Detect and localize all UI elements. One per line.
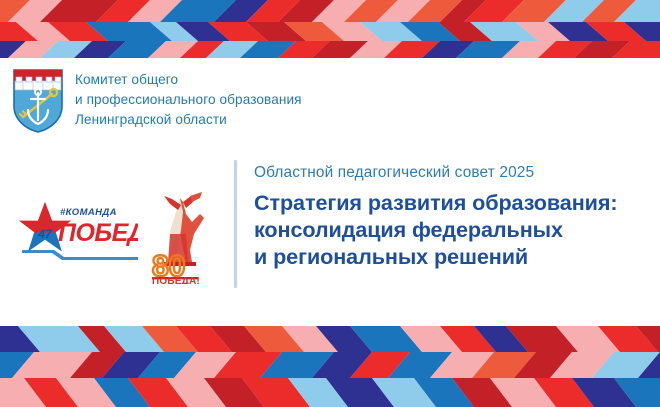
team-of-victory-logo: 47 #КОМАНДА ПОБЕДЫ xyxy=(14,198,138,260)
organization-name: Комитет общего и профессионального образ… xyxy=(75,68,302,130)
headline-line-1: Стратегия развития образования: xyxy=(254,189,617,216)
victory-80-logo: 80 ПОБЕДА! xyxy=(150,192,216,284)
leningrad-oblast-coat-of-arms-icon xyxy=(12,68,64,134)
organization-line-2: и профессионального образования xyxy=(75,90,302,110)
victory-word: ПОБЕДА! xyxy=(152,276,200,284)
team-hashtag: #КОМАНДА xyxy=(60,207,117,218)
team-word: ПОБЕДЫ xyxy=(58,219,138,247)
organization-line-3: Ленинградской области xyxy=(75,110,302,130)
headline-line-3: и региональных решений xyxy=(254,243,617,270)
top-chevron-pattern xyxy=(0,0,660,59)
region-number: 47 xyxy=(37,227,53,241)
event-kicker: Областной педагогический совет 2025 xyxy=(254,162,617,183)
organization-line-1: Комитет общего xyxy=(75,70,302,90)
bottom-chevron-pattern xyxy=(0,326,660,407)
headline-line-2: консолидация федеральных xyxy=(254,216,617,243)
organization-block: Комитет общего и профессионального образ… xyxy=(12,68,302,134)
event-banner: Комитет общего и профессионального образ… xyxy=(0,0,660,407)
title-divider-rule xyxy=(234,160,237,288)
title-block: Областной педагогический совет 2025 Стра… xyxy=(234,160,617,288)
